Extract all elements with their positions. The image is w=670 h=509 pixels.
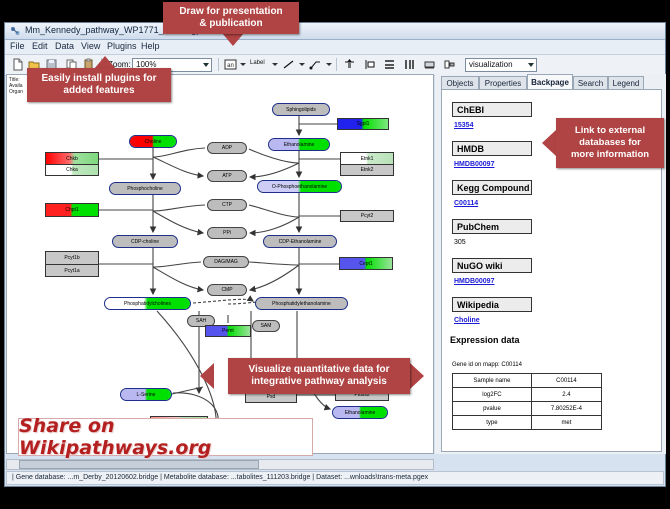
cell-pvalue-value: 7.80252E-4 — [531, 402, 601, 416]
table-row: type met — [453, 416, 602, 430]
field-value-hmdb[interactable]: HMDB00097 — [454, 161, 494, 168]
node-cdp-choline[interactable]: CDP-choline — [112, 235, 178, 248]
gene-pcyt1b[interactable]: Pcyt1b — [45, 251, 99, 264]
node-label: Pcyt2 — [361, 213, 374, 219]
toolbar-separator-3 — [336, 58, 337, 71]
node-label: SAM — [261, 323, 272, 329]
callout-plugins: Easily install plugins for added feature… — [27, 68, 171, 102]
gene-pcyt1a[interactable]: Pcyt1a — [45, 264, 99, 277]
gene-id-line: Gene id on mapp: C00114 — [452, 362, 522, 368]
cell-type-value: met — [531, 416, 601, 430]
gene-sgpl1[interactable]: Sgpl1 — [337, 118, 389, 130]
gene-etnk2[interactable]: Etnk2 — [340, 164, 394, 176]
gene-chka[interactable]: Chka — [45, 164, 99, 176]
node-label: Chka — [66, 167, 78, 173]
table-row: Sample name C00114 — [453, 374, 602, 388]
cell-sample-name-label: Sample name — [453, 374, 532, 388]
menu-item-file[interactable]: File — [10, 41, 25, 51]
gene-pcyt2[interactable]: Pcyt2 — [340, 210, 394, 222]
node-label: Ethanolamine — [345, 410, 376, 416]
node-sam[interactable]: SAM — [252, 320, 280, 332]
cell-log2fc-value: 2.4 — [531, 388, 601, 402]
screenshot-root: Mm_Kennedy_pathway_WP1771_45176.gpml Fil… — [0, 0, 670, 509]
node-label: ATP — [222, 173, 231, 179]
node-label: Etnk2 — [361, 167, 374, 173]
gene-cept1[interactable]: Cept1 — [339, 257, 393, 270]
datanode-dropdown-caret[interactable] — [240, 63, 246, 66]
menu-item-plugins[interactable]: Plugins — [107, 41, 137, 51]
node-label: Etnk1 — [361, 156, 374, 162]
callout-visualize-arrow-right — [410, 363, 424, 389]
node-label: ADP — [222, 145, 232, 151]
node-label: CTP — [222, 202, 232, 208]
tab-properties[interactable]: Properties — [479, 76, 527, 89]
field-label-nugowiki: NuGO wiki — [452, 258, 532, 273]
node-label: L-Serine — [137, 392, 156, 398]
node-label: DAG/MAG — [214, 259, 238, 265]
callout-share: Share on Wikipathways.org — [18, 418, 313, 456]
node-choline-top[interactable]: Choline — [129, 135, 177, 148]
node-label: Sgpl1 — [357, 121, 370, 127]
canvas-hscroll-thumb[interactable] — [19, 460, 259, 469]
visualization-combo[interactable]: visualization — [465, 58, 537, 72]
chevron-down-icon — [528, 63, 534, 67]
pathway-canvas[interactable]: Title: Availa Organ — [6, 74, 434, 454]
node-dag-mag[interactable]: DAG/MAG — [203, 256, 249, 268]
datanode-icon[interactable]: an — [224, 58, 237, 71]
status-text: | Gene database: ...m_Derby_20120602.bri… — [12, 474, 428, 481]
callout-draw-arrow — [222, 33, 244, 46]
node-cdp-ethanolamine[interactable]: CDP-Ethanolamine — [263, 235, 337, 248]
field-label-wikipedia: Wikipedia — [452, 297, 532, 312]
node-adp[interactable]: ADP — [207, 142, 247, 154]
node-label: Phosphocholine — [127, 186, 163, 192]
group-icon[interactable] — [423, 58, 436, 71]
node-o-phosphoethanolamine[interactable]: O-Phosphoethanolamine — [257, 180, 342, 193]
node-phosphatidylethanolamine[interactable]: Phosphatidylethanolamine — [255, 297, 348, 310]
table-row: log2FC 2.4 — [453, 388, 602, 402]
svg-text:an: an — [227, 63, 234, 69]
line-dropdown-caret[interactable] — [299, 63, 305, 66]
tab-search[interactable]: Search — [573, 76, 608, 89]
cell-sample-name-value: C00114 — [531, 374, 601, 388]
cell-type-label: type — [453, 416, 532, 430]
node-label: Sphingolipids — [286, 107, 316, 113]
cell-pvalue-label: pvalue — [453, 402, 532, 416]
pathvisio-icon — [10, 26, 20, 36]
node-label: Ethanolamine — [284, 142, 315, 148]
ungroup-icon[interactable] — [443, 58, 456, 71]
node-label: Psd — [267, 394, 276, 400]
toolbar-separator-2 — [218, 58, 219, 71]
node-ctp[interactable]: CTP — [207, 199, 247, 211]
align-top-icon[interactable] — [343, 58, 356, 71]
expression-data-heading: Expression data — [450, 335, 520, 345]
field-label-hmdb: HMDB — [452, 141, 532, 156]
interaction-dropdown-caret[interactable] — [326, 63, 332, 66]
interaction-icon[interactable] — [309, 58, 322, 71]
align-left-icon[interactable] — [363, 58, 376, 71]
node-label: CDP-Ethanolamine — [279, 239, 322, 245]
node-label: Choline — [145, 139, 162, 145]
node-cmp[interactable]: CMP — [207, 284, 247, 296]
node-label: PPi — [223, 230, 231, 236]
callout-link-arrow — [542, 130, 556, 156]
node-label: Chkb — [66, 156, 78, 162]
menu-bar: File Edit Data View Plugins Help — [5, 40, 665, 55]
field-label-chebi: ChEBI — [452, 102, 532, 117]
field-value-kegg[interactable]: C00114 — [454, 200, 478, 207]
menu-item-view[interactable]: View — [81, 41, 100, 51]
menu-item-edit[interactable]: Edit — [32, 41, 48, 51]
field-value-chebi[interactable]: 15354 — [454, 122, 473, 129]
tab-objects[interactable]: Objects — [441, 76, 479, 89]
cell-log2fc-label: log2FC — [453, 388, 532, 402]
label-dropdown-caret[interactable] — [272, 63, 278, 66]
node-phosphatidylcholines[interactable]: Phosphatidylcholines — [104, 297, 191, 310]
node-label: SAH — [196, 318, 206, 324]
node-ethanolamine-right[interactable]: Ethanolamine — [332, 406, 388, 419]
node-label: Pcyt1b — [64, 255, 79, 261]
node-label: Chpt1 — [65, 207, 78, 213]
callout-draw: Draw for presentation & publication — [163, 2, 299, 34]
distribute-horizontal-icon[interactable] — [403, 58, 416, 71]
title-bar: Mm_Kennedy_pathway_WP1771_45176.gpml — [5, 23, 665, 40]
node-ethanolamine[interactable]: Ethanolamine — [268, 138, 330, 151]
node-label: O-Phosphoethanolamine — [272, 184, 327, 190]
node-label: Pemt — [222, 328, 234, 334]
node-label: CDP-choline — [131, 239, 159, 245]
gene-chpt1[interactable]: Chpt1 — [45, 203, 99, 217]
label-tool-label[interactable]: Label — [250, 60, 265, 66]
node-sphingolipids[interactable]: Sphingolipids — [272, 103, 330, 116]
expression-table: Sample name C00114 log2FC 2.4 pvalue 7.8… — [452, 373, 602, 430]
distribute-vertical-icon[interactable] — [383, 58, 396, 71]
node-label: Phosphatidylethanolamine — [272, 301, 331, 307]
field-value-pubchem: 305 — [454, 239, 466, 246]
new-icon[interactable] — [11, 58, 24, 71]
visualization-value: visualization — [469, 60, 513, 69]
field-value-wikipedia[interactable]: Choline — [454, 317, 480, 324]
node-label: Pcyt1a — [64, 268, 79, 274]
node-atp[interactable]: ATP — [207, 170, 247, 182]
node-label: Cept1 — [359, 261, 372, 267]
canvas-hscrollbar[interactable] — [6, 459, 434, 470]
chevron-down-icon — [203, 63, 209, 67]
share-text: Share on Wikipathways.org — [19, 415, 312, 459]
gene-etnk1[interactable]: Etnk1 — [340, 152, 394, 164]
field-label-kegg: Kegg Compound — [452, 180, 532, 195]
menu-item-data[interactable]: Data — [55, 41, 74, 51]
line-icon[interactable] — [282, 58, 295, 71]
gene-chkb[interactable]: Chkb — [45, 152, 99, 164]
node-ppi[interactable]: PPi — [207, 227, 247, 239]
node-label: CMP — [221, 287, 232, 293]
field-value-nugowiki[interactable]: HMDB00097 — [454, 278, 494, 285]
status-bar: | Gene database: ...m_Derby_20120602.bri… — [6, 471, 664, 485]
callout-visualize: Visualize quantitative data for integrat… — [228, 358, 410, 394]
callout-visualize-arrow-left — [200, 363, 214, 389]
field-label-pubchem: PubChem — [452, 219, 532, 234]
gene-pemt-upper[interactable]: Pemt — [205, 325, 251, 337]
node-label: Phosphatidylcholines — [124, 301, 171, 307]
table-row: pvalue 7.80252E-4 — [453, 402, 602, 416]
node-l-serine-left[interactable]: L-Serine — [120, 388, 172, 401]
node-phosphocholine[interactable]: Phosphocholine — [109, 182, 181, 195]
tab-backpage[interactable]: Backpage — [527, 74, 573, 89]
menu-item-help[interactable]: Help — [141, 41, 160, 51]
tab-legend[interactable]: Legend — [608, 76, 644, 89]
callout-link: Link to external databases for more info… — [556, 118, 664, 168]
